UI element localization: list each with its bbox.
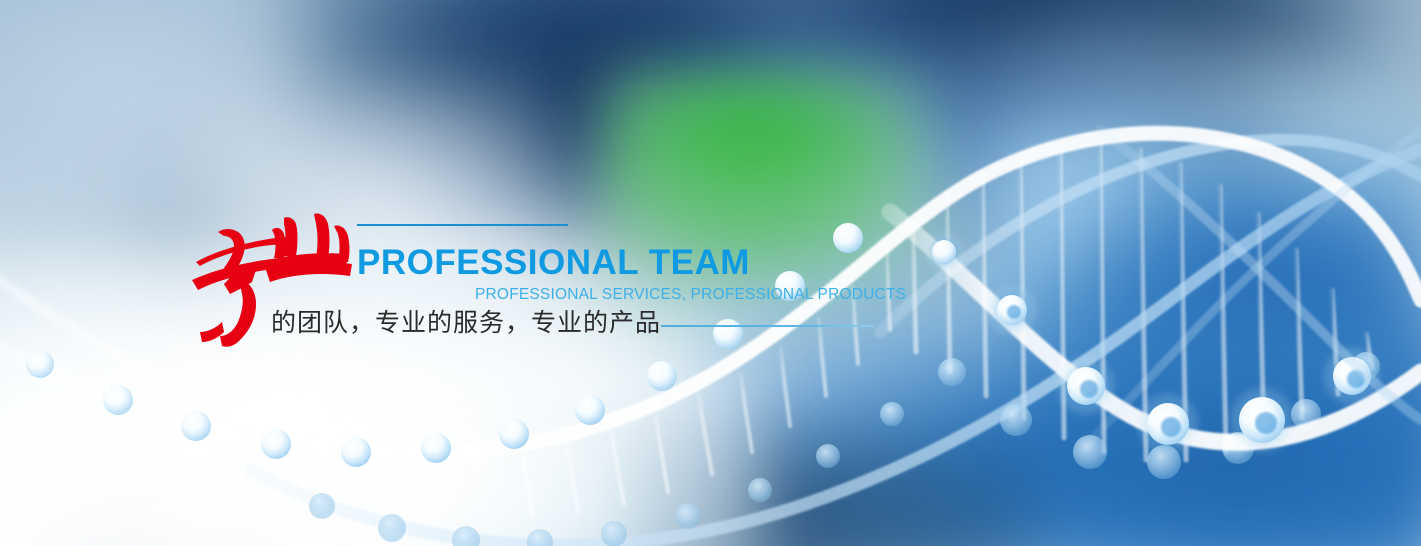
rule-bottom [661, 325, 874, 327]
tagline: 的团队，专业的服务，专业的产品 [271, 306, 661, 340]
banner-content: PROFESSIONAL TEAM PROFESSIONAL SERVICES,… [0, 0, 1421, 546]
promotional-banner: PROFESSIONAL TEAM PROFESSIONAL SERVICES,… [0, 0, 1421, 546]
headline: PROFESSIONAL TEAM [357, 243, 750, 283]
subheadline: PROFESSIONAL SERVICES, PROFESSIONAL PROD… [475, 285, 906, 304]
rule-top [357, 224, 568, 226]
